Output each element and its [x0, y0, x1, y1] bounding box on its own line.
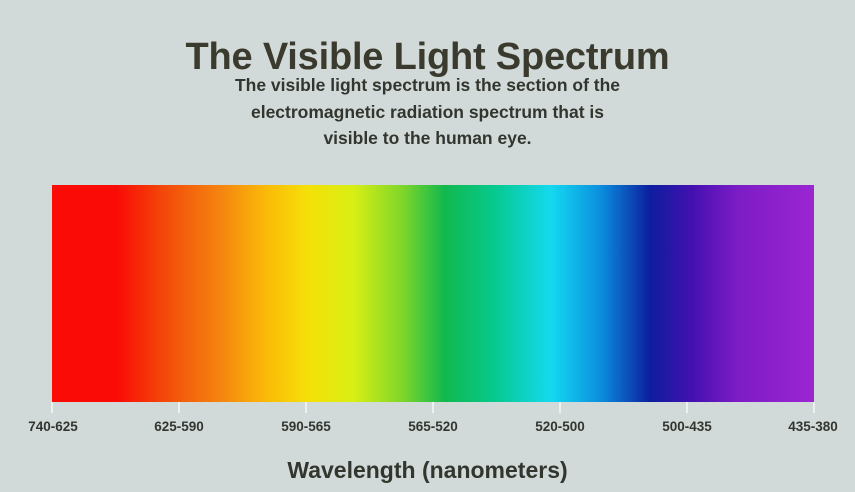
- subtitle-line-3: visible to the human eye.: [0, 125, 855, 152]
- axis-tick-label: 435-380: [753, 419, 855, 434]
- axis-tick-label: 625-590: [119, 419, 239, 434]
- axis-tick-mark: [559, 402, 561, 413]
- axis-tick-mark: [432, 402, 434, 413]
- axis-tick-mark: [813, 402, 815, 413]
- axis-tick-mark: [51, 402, 53, 413]
- axis-tick-label: 565-520: [373, 419, 493, 434]
- axis-tick-mark: [178, 402, 180, 413]
- axis-title: Wavelength (nanometers): [0, 457, 855, 484]
- axis-tick-label: 520-500: [500, 419, 620, 434]
- axis-tick-label: 590-565: [246, 419, 366, 434]
- wavelength-axis: 740-625625-590590-565565-520520-500500-4…: [0, 402, 855, 492]
- spectrum-bar-container: [52, 185, 814, 402]
- subtitle-line-2: electromagnetic radiation spectrum that …: [0, 99, 855, 126]
- axis-tick-label: 500-435: [627, 419, 747, 434]
- subtitle-line-1: The visible light spectrum is the sectio…: [0, 72, 855, 99]
- visible-light-spectrum-figure: The Visible Light Spectrum The visible l…: [0, 0, 855, 492]
- spectrum-gradient-bar: [52, 185, 814, 402]
- axis-tick-mark: [686, 402, 688, 413]
- axis-tick-label: 740-625: [0, 419, 113, 434]
- axis-tick-mark: [305, 402, 307, 413]
- subtitle: The visible light spectrum is the sectio…: [0, 72, 855, 152]
